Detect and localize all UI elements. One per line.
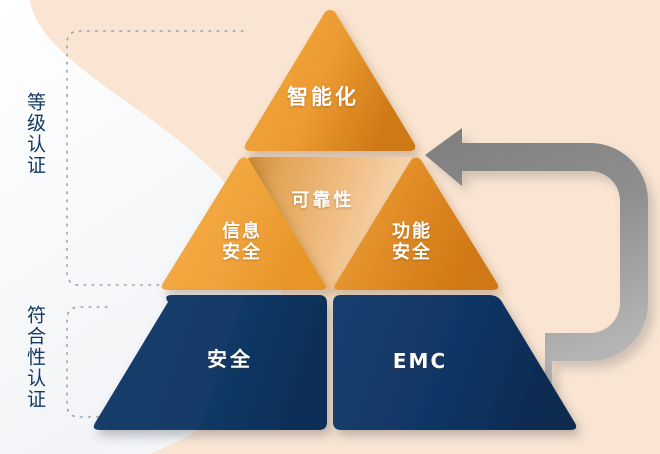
block-smart[interactable] <box>245 10 415 151</box>
block-label-funcsafe: 功能 安全 <box>352 221 472 263</box>
diagram-canvas: 等级认证 符合性认证 智能化 可靠性 信息 安全 功能 安全 安全 EMC <box>0 0 660 454</box>
block-label-infosec: 信息 安全 <box>182 221 302 263</box>
block-label-emc: EMC <box>340 350 500 374</box>
block-label-reliability: 可靠性 <box>258 190 388 211</box>
block-label-safety: 安全 <box>155 349 305 373</box>
label-grade-certification: 等级认证 <box>24 92 44 176</box>
block-label-smart: 智能化 <box>243 86 403 111</box>
label-compliance-certification: 符合性认证 <box>24 305 44 410</box>
pyramid-layer <box>0 0 660 454</box>
